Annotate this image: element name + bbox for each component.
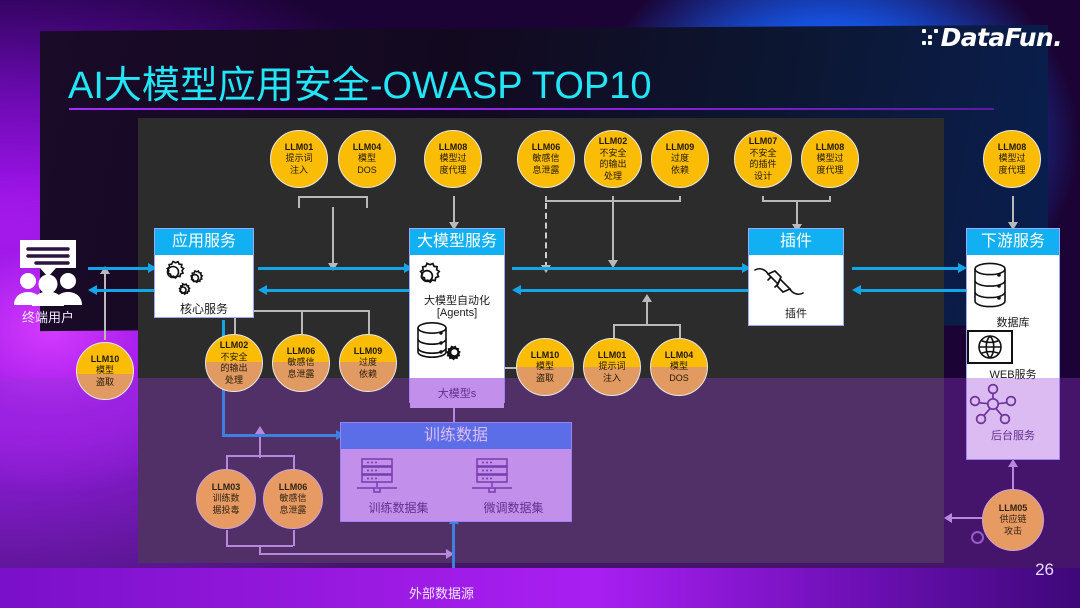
box-plugin[interactable]: 插件 插件	[748, 228, 844, 326]
risk-name: 模型 盗取	[536, 361, 554, 383]
background-bottom-band	[0, 568, 1080, 608]
risk-circle-llm08-downstream[interactable]: LLM08模型过 度代理	[983, 130, 1041, 188]
finetune-dataset-item[interactable]: 微调数据集	[466, 457, 562, 516]
risk-id: LLM04	[665, 350, 694, 360]
box-downstream-caption-web: WEB服务	[967, 366, 1059, 382]
training-dataset-caption: 训练数据集	[351, 499, 447, 516]
database-icon	[967, 261, 1059, 313]
box-training-data-header: 训练数据	[341, 423, 571, 449]
training-dataset-item[interactable]: 训练数据集	[351, 457, 447, 516]
risk-circle-llm09-app[interactable]: LLM09过度 依赖	[339, 334, 397, 392]
box-downstream[interactable]: 下游服务 数据库	[966, 228, 1060, 460]
connector	[796, 200, 798, 226]
connector	[332, 207, 334, 265]
risk-name: 不安全 的输出 处理	[599, 148, 626, 181]
box-llm-service-footer-label: 大模型s	[438, 385, 477, 401]
risk-circle-llm10-llm[interactable]: LLM10模型 盗取	[516, 338, 574, 396]
connector	[259, 553, 449, 555]
connector-dashed	[545, 203, 547, 268]
flow-line	[88, 267, 150, 270]
connector	[612, 200, 614, 262]
connector	[679, 324, 681, 338]
risk-id: LLM03	[212, 482, 241, 492]
risk-id: LLM05	[999, 503, 1028, 513]
connector	[301, 310, 303, 334]
connector	[293, 455, 295, 469]
risk-name: 模型过 度代理	[816, 153, 843, 175]
flow-line	[520, 289, 752, 292]
risk-id: LLM02	[599, 136, 628, 146]
flow-line	[860, 289, 970, 292]
arrow-head	[944, 513, 952, 523]
box-app-service-body: 核心服务	[155, 255, 253, 321]
finetune-dataset-caption: 微调数据集	[466, 499, 562, 516]
risk-circle-llm05-supply-chain[interactable]: LLM05供应链 攻击	[982, 489, 1044, 551]
risk-circle-llm02-llm[interactable]: LLM02不安全 的输出 处理	[584, 130, 642, 188]
risk-circle-llm06-app[interactable]: LLM06敏感信 息泄露	[272, 334, 330, 392]
risk-name: 模型 DOS	[669, 361, 689, 383]
risk-name: 提示词 注入	[285, 153, 312, 175]
risk-id: LLM10	[91, 354, 120, 364]
risk-id: LLM08	[998, 142, 1027, 152]
connector	[545, 196, 547, 202]
risk-circle-llm01[interactable]: LLM01提示词 注入	[270, 130, 328, 188]
risk-id: LLM01	[285, 142, 314, 152]
risk-id: LLM06	[287, 346, 316, 356]
risk-circle-llm08-plugin[interactable]: LLM08模型过 度代理	[801, 130, 859, 188]
box-training-data[interactable]: 训练数据	[340, 422, 572, 522]
connector	[104, 272, 106, 340]
box-downstream-header: 下游服务	[967, 229, 1059, 255]
gear-icon	[410, 261, 504, 293]
risk-id: LLM01	[598, 350, 627, 360]
risk-circle-llm04-llm[interactable]: LLM04模型 DOS	[650, 338, 708, 396]
risk-circle-llm10-user[interactable]: LLM10模型 盗取	[76, 342, 134, 400]
risk-id: LLM09	[666, 142, 695, 152]
box-downstream-caption-backend: 后台服务	[967, 427, 1059, 443]
risk-id: LLM08	[816, 142, 845, 152]
connector	[222, 434, 340, 437]
flow-line	[512, 267, 744, 270]
gears-icon	[155, 259, 253, 297]
logo-dots-icon	[922, 29, 938, 45]
connector	[293, 530, 295, 546]
box-plugin-caption: 插件	[749, 305, 843, 321]
connector	[1012, 196, 1014, 224]
risk-id: LLM06	[279, 482, 308, 492]
risk-name: 模型过 度代理	[998, 153, 1025, 175]
flow-line	[266, 289, 414, 292]
risk-name: 不安全 的插件 设计	[749, 148, 776, 181]
box-app-service-caption: 核心服务	[155, 300, 253, 317]
plug-icon	[749, 263, 843, 299]
risk-name: 供应链 攻击	[999, 514, 1026, 536]
connector	[829, 196, 831, 202]
title-underline	[69, 108, 994, 110]
box-llm-service-header: 大模型服务	[410, 229, 504, 255]
risk-circle-llm03-training[interactable]: LLM03训练数 据投毒	[196, 469, 256, 529]
risk-name: 敏感信 息泄露	[279, 493, 306, 515]
connector	[298, 196, 368, 198]
connector	[298, 196, 300, 208]
arrow-head	[642, 294, 652, 302]
arrow-head	[255, 426, 265, 434]
slide-root: DataFun. AI大模型应用安全-OWASP TOP10	[0, 0, 1080, 608]
risk-circle-llm09-llm[interactable]: LLM09过度 依赖	[651, 130, 709, 188]
box-app-service-header: 应用服务	[155, 229, 253, 255]
risk-id: LLM08	[439, 142, 468, 152]
risk-id: LLM09	[354, 346, 383, 356]
datafun-logo: DataFun.	[922, 22, 1062, 52]
risk-id: LLM06	[532, 142, 561, 152]
risk-circle-llm08-llm[interactable]: LLM08模型过 度代理	[424, 130, 482, 188]
connector	[679, 196, 681, 202]
connector	[613, 324, 615, 338]
risk-name: 敏感信 息泄露	[532, 153, 559, 175]
page-title: AI大模型应用安全-OWASP TOP10	[68, 54, 652, 109]
risk-id: LLM07	[749, 136, 778, 146]
risk-id: LLM04	[353, 142, 382, 152]
risk-name: 模型过 度代理	[439, 153, 466, 175]
box-llm-service[interactable]: 大模型服务 大模型自动化 [Agents]	[409, 228, 505, 403]
box-downstream-body: 数据库 WEB服务	[967, 255, 1059, 465]
connector	[646, 300, 648, 326]
connector	[762, 196, 764, 202]
risk-circle-llm06-training[interactable]: LLM06敏感信 息泄露	[263, 469, 323, 529]
logo-text: DataFun.	[941, 23, 1062, 52]
connector	[259, 545, 261, 555]
risk-name: 模型 盗取	[96, 365, 114, 387]
risk-name: 过度 依赖	[359, 357, 377, 379]
box-training-data-body: 训练数据集	[341, 449, 571, 521]
server-icon	[466, 457, 562, 497]
arrow-head	[512, 285, 521, 295]
box-llm-service-footer: 大模型s	[410, 378, 504, 408]
server-icon	[351, 457, 447, 497]
box-app-service[interactable]: 应用服务 核心服务	[154, 228, 254, 318]
risk-name: 过度 依赖	[671, 153, 689, 175]
box-downstream-caption-db: 数据库	[967, 314, 1059, 330]
page-number: 26	[1035, 560, 1054, 580]
flow-line	[852, 267, 962, 270]
risk-circle-llm07-plugin[interactable]: LLM07不安全 的插件 设计	[734, 130, 792, 188]
flow-line	[96, 289, 158, 292]
risk-circle-llm01-llm[interactable]: LLM01提示词 注入	[583, 338, 641, 396]
connector	[226, 530, 228, 546]
end-user-label: 终端用户	[10, 307, 86, 326]
arrow-head	[258, 285, 267, 295]
box-llm-service-body: 大模型自动化 [Agents]	[410, 255, 504, 378]
database-gear-icon	[410, 319, 504, 367]
arrow-head	[852, 285, 861, 295]
risk-circle-llm02-app[interactable]: LLM02不安全 的输出 处理	[205, 334, 263, 392]
external-source-label: 外部数据源	[409, 583, 474, 602]
connector	[366, 196, 368, 208]
risk-id: LLM02	[220, 340, 249, 350]
flow-line	[258, 267, 406, 270]
connector	[368, 310, 370, 334]
risk-circle-llm06-llm[interactable]: LLM06敏感信 息泄露	[517, 130, 575, 188]
box-llm-service-agents-caption: 大模型自动化 [Agents]	[410, 295, 504, 319]
risk-name: 提示词 注入	[598, 361, 625, 383]
risk-name: 训练数 据投毒	[212, 493, 239, 515]
network-icon	[967, 382, 1059, 426]
connector-dot	[971, 531, 984, 544]
connector	[226, 455, 228, 469]
risk-circle-llm04[interactable]: LLM04模型 DOS	[338, 130, 396, 188]
box-plugin-body: 插件	[749, 255, 843, 333]
risk-name: 不安全 的输出 处理	[220, 352, 247, 385]
users-chat-icon	[12, 236, 84, 306]
globe-icon	[967, 330, 1059, 364]
risk-id: LLM10	[531, 350, 560, 360]
box-plugin-header: 插件	[749, 229, 843, 255]
risk-name: 敏感信 息泄露	[287, 357, 314, 379]
connector	[453, 196, 455, 224]
arrow-head	[88, 285, 97, 295]
risk-name: 模型 DOS	[357, 153, 377, 175]
